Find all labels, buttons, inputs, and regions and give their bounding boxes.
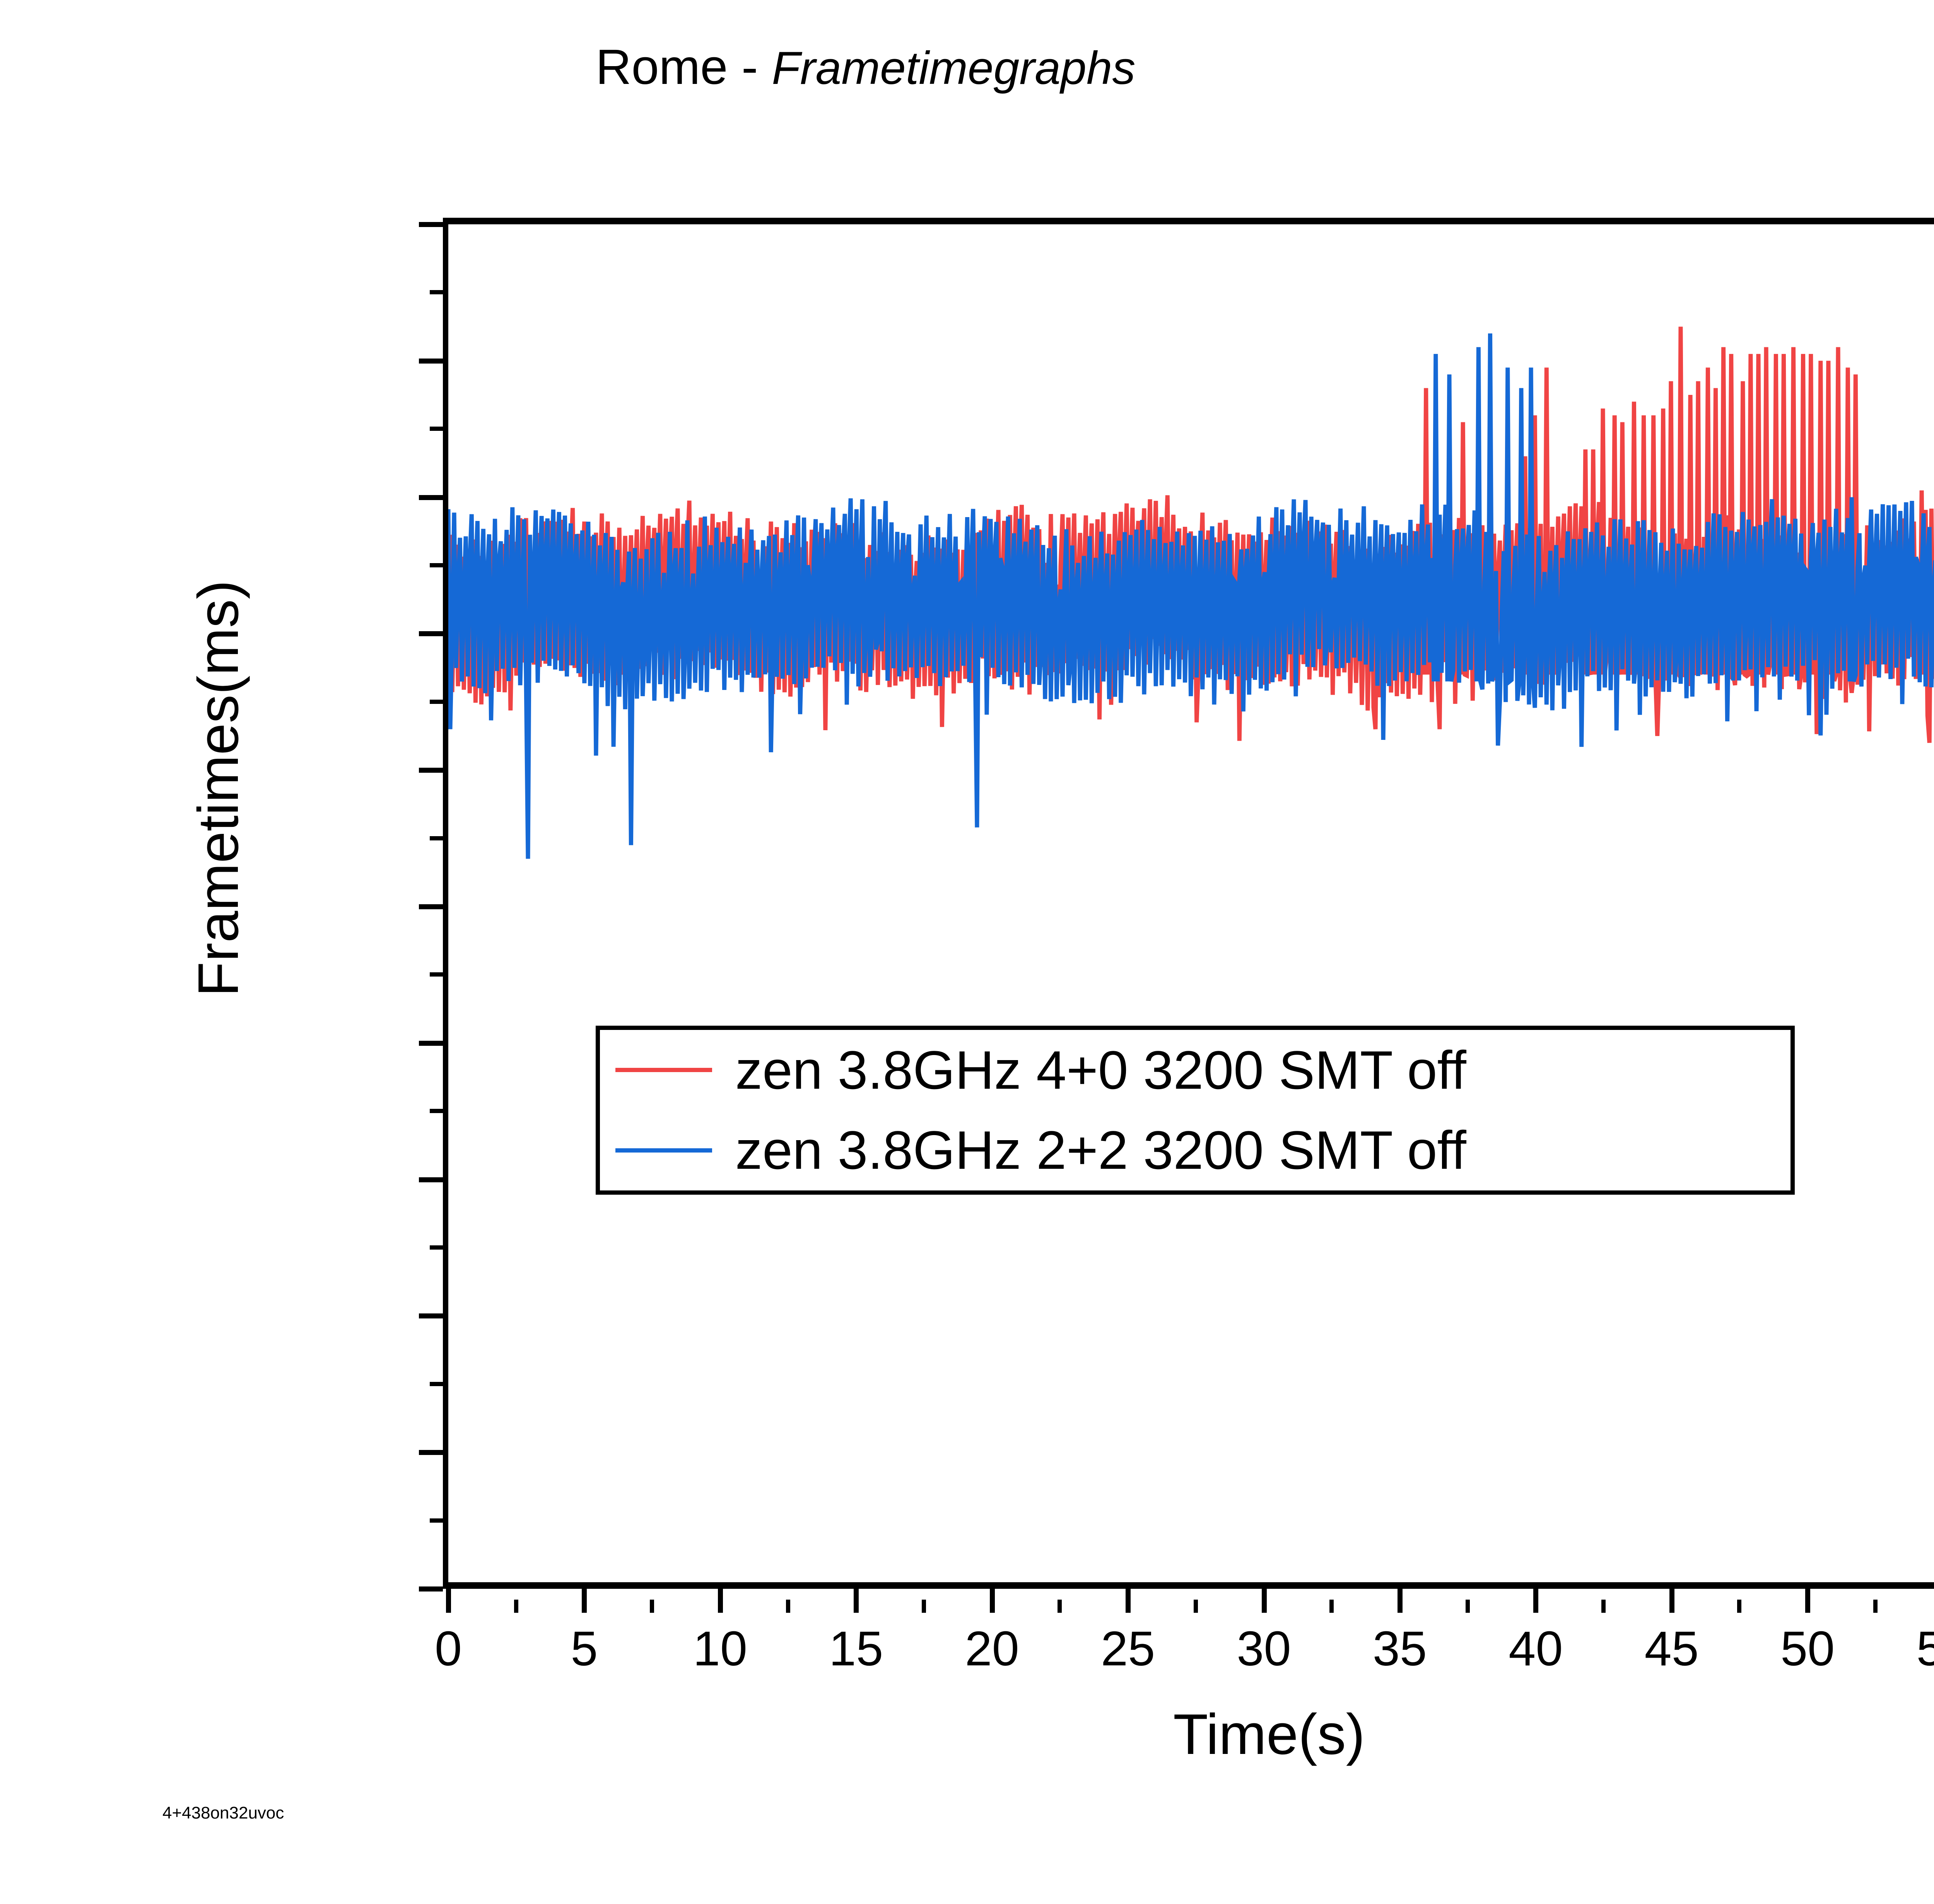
- x-tick-minor: [1601, 1600, 1606, 1613]
- x-tick-minor: [922, 1600, 926, 1613]
- x-tick-label: 30: [1237, 1621, 1291, 1677]
- title-emphasis-text: Frametimegraphs: [772, 42, 1135, 94]
- x-tick-label: 5: [571, 1621, 598, 1677]
- x-tick-major: [582, 1589, 587, 1613]
- y-tick-major: [419, 1586, 443, 1592]
- y-tick-major: [419, 768, 443, 773]
- x-tick-minor: [1194, 1600, 1198, 1613]
- plot-frame-top-border: [443, 218, 1934, 224]
- legend-label-series-1: zen 3.8GHz 4+0 3200 SMT off: [735, 1043, 1466, 1097]
- y-tick-major: [419, 222, 443, 227]
- x-tick-label: 25: [1101, 1621, 1155, 1677]
- y-tick-minor: [430, 290, 443, 294]
- y-tick-minor: [430, 972, 443, 977]
- y-tick-minor: [430, 427, 443, 431]
- y-tick-minor: [430, 1109, 443, 1113]
- y-tick-minor: [430, 1518, 443, 1523]
- y-tick-major: [419, 495, 443, 500]
- plot-frame-left-border: [443, 218, 448, 1589]
- title-main-text: Rome -: [596, 39, 772, 95]
- series-line-2: [448, 333, 1934, 859]
- x-tick-minor: [1737, 1600, 1741, 1613]
- page-title: Rome - Frametimegraphs: [596, 39, 1136, 96]
- y-tick-major: [419, 1177, 443, 1182]
- x-tick-label: 50: [1780, 1621, 1835, 1677]
- y-tick-minor: [430, 700, 443, 704]
- x-tick-minor: [514, 1600, 518, 1613]
- y-tick-major: [419, 359, 443, 364]
- x-tick-minor: [1329, 1600, 1334, 1613]
- x-tick-major: [1398, 1589, 1403, 1613]
- y-tick-major: [419, 1450, 443, 1455]
- x-axis-title: Time(s): [0, 1702, 1934, 1767]
- x-tick-major: [446, 1589, 451, 1613]
- x-tick-minor: [1466, 1600, 1470, 1613]
- legend: zen 3.8GHz 4+0 3200 SMT off zen 3.8GHz 2…: [596, 1026, 1795, 1195]
- x-tick-major: [990, 1589, 995, 1613]
- y-tick-minor: [430, 563, 443, 567]
- x-tick-major: [854, 1589, 859, 1613]
- x-tick-major: [1533, 1589, 1538, 1613]
- x-tick-major: [1126, 1589, 1131, 1613]
- x-tick-label: 15: [829, 1621, 883, 1677]
- y-tick-minor: [430, 1382, 443, 1386]
- x-tick-label: 35: [1373, 1621, 1427, 1677]
- series-plot-area: [448, 224, 1934, 1589]
- legend-item[interactable]: zen 3.8GHz 4+0 3200 SMT off: [600, 1030, 1790, 1110]
- x-tick-major: [1669, 1589, 1674, 1613]
- x-tick-label: 20: [965, 1621, 1019, 1677]
- x-axis-ticks: [443, 1589, 1934, 1613]
- x-tick-minor: [1873, 1600, 1878, 1613]
- y-tick-minor: [430, 1245, 443, 1250]
- watermark-text: 4+438on32uvoc: [162, 1803, 284, 1823]
- x-tick-major: [1262, 1589, 1267, 1613]
- y-tick-major: [419, 631, 443, 636]
- legend-color-swatch-series-1: [615, 1068, 712, 1072]
- x-tick-label: 55: [1917, 1621, 1934, 1677]
- y-axis-ticks: [419, 218, 443, 1589]
- y-tick-minor: [430, 836, 443, 840]
- x-tick-label: 40: [1509, 1621, 1563, 1677]
- x-tick-minor: [1058, 1600, 1062, 1613]
- y-tick-major: [419, 1313, 443, 1318]
- x-tick-label: 45: [1645, 1621, 1699, 1677]
- x-tick-major: [1805, 1589, 1810, 1613]
- legend-item[interactable]: zen 3.8GHz 2+2 3200 SMT off: [600, 1110, 1790, 1191]
- x-tick-minor: [650, 1600, 654, 1613]
- x-tick-minor: [786, 1600, 790, 1613]
- x-tick-major: [718, 1589, 723, 1613]
- y-axis-title: Frametimes(ms): [186, 580, 251, 997]
- legend-color-swatch-series-2: [615, 1148, 712, 1153]
- x-axis-title-text: Time(s): [1173, 1703, 1365, 1766]
- y-tick-major: [419, 904, 443, 909]
- y-tick-major: [419, 1041, 443, 1046]
- x-tick-label: 10: [693, 1621, 747, 1677]
- x-tick-label: 0: [435, 1621, 462, 1677]
- legend-label-series-2: zen 3.8GHz 2+2 3200 SMT off: [735, 1123, 1466, 1177]
